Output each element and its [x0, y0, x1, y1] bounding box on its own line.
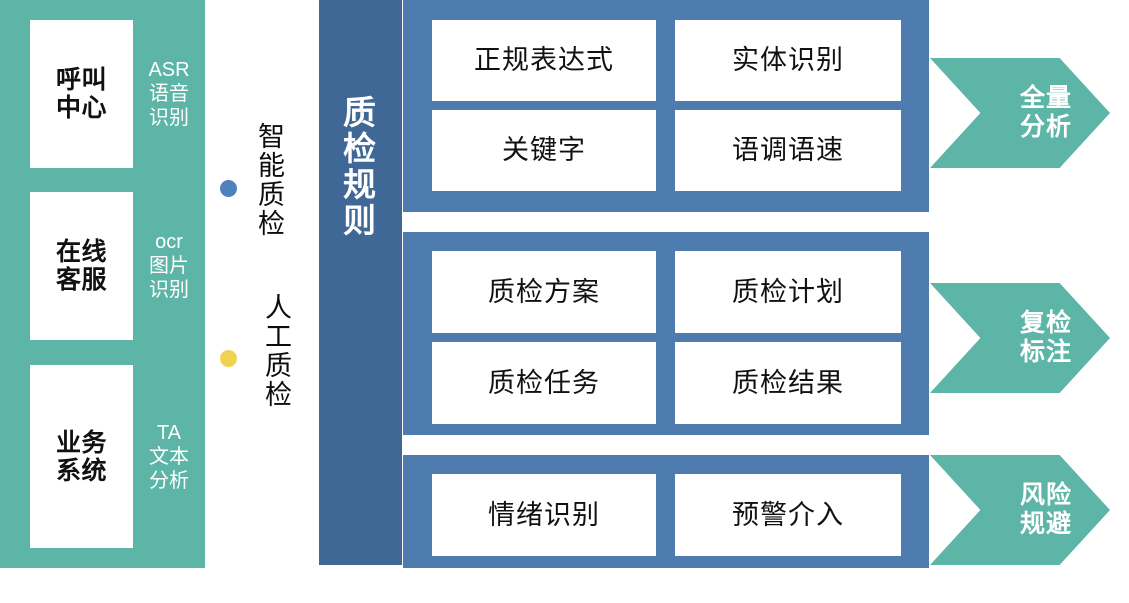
data-source-panel: 呼叫中心 ASR 语音 识别 在线客服 ocr 图片 识别 业务系统 TA — [0, 0, 205, 568]
cell-label: 质检计划 — [732, 279, 844, 306]
cell-label: 预警介入 — [732, 502, 844, 529]
outcome-chevron-label: 风险 规避 — [930, 481, 1110, 539]
group-panel-process: 质检方案 质检计划 质检任务 质检结果 — [403, 232, 929, 435]
cell-tone-speed[interactable]: 语调语速 — [675, 110, 901, 191]
source-box-online-service[interactable]: 在线客服 — [30, 192, 133, 340]
source-box-call-center[interactable]: 呼叫中心 — [30, 20, 133, 168]
cell-inspection-result[interactable]: 质检结果 — [675, 342, 901, 424]
cell-inspection-task[interactable]: 质检任务 — [432, 342, 656, 424]
outcome-chevron-risk-avoidance[interactable]: 风险 规避 — [930, 455, 1110, 565]
cell-emotion-recognition[interactable]: 情绪识别 — [432, 474, 656, 556]
mode-label-manual-inspection: 人工质检 — [262, 293, 289, 409]
source-tech-line: TA — [149, 421, 189, 445]
source-box-business-system[interactable]: 业务系统 — [30, 365, 133, 548]
inspection-rule-bar-label: 质检规则 — [341, 95, 381, 239]
source-box-label: 业务系统 — [56, 429, 107, 485]
outcome-chevron-label: 全量 分析 — [930, 84, 1110, 142]
cell-entity-recognition[interactable]: 实体识别 — [675, 20, 901, 101]
source-tech-line: 语音 — [148, 82, 189, 106]
mode-label-smart-inspection: 智能质检 — [255, 122, 282, 238]
group-panel-intervention: 情绪识别 预警介入 — [403, 455, 929, 568]
cell-label: 关键字 — [502, 137, 586, 164]
outcome-line: 标注 — [982, 338, 1110, 367]
cell-label: 质检方案 — [488, 279, 600, 306]
source-tech-line: ocr — [149, 230, 189, 254]
cell-label: 语调语速 — [732, 137, 844, 164]
cell-keyword[interactable]: 关键字 — [432, 110, 656, 191]
outcome-line: 风险 — [982, 481, 1110, 510]
outcome-line: 复检 — [982, 309, 1110, 338]
bullet-manual-inspection — [220, 350, 237, 367]
source-box-label: 在线客服 — [56, 238, 107, 294]
outcome-chevron-label: 复检 标注 — [930, 309, 1110, 367]
source-tech-line: 图片 — [149, 254, 189, 278]
source-box-label: 呼叫中心 — [56, 66, 107, 122]
outcome-line: 规避 — [982, 510, 1110, 539]
group-panel-rules: 正规表达式 实体识别 关键字 语调语速 — [403, 0, 929, 212]
outcome-line: 全量 — [982, 84, 1110, 113]
inspection-rule-bar: 质检规则 — [319, 0, 402, 565]
cell-regex[interactable]: 正规表达式 — [432, 20, 656, 101]
source-tech-online-service: ocr 图片 识别 — [136, 192, 202, 340]
outcome-line: 分析 — [982, 113, 1110, 142]
source-tech-line: 分析 — [149, 469, 189, 493]
source-tech-line: 识别 — [148, 106, 189, 130]
outcome-chevron-full-analysis[interactable]: 全量 分析 — [930, 58, 1110, 168]
cell-label: 实体识别 — [732, 47, 844, 74]
outcome-chevron-recheck-annotation[interactable]: 复检 标注 — [930, 283, 1110, 393]
cell-label: 质检任务 — [488, 370, 600, 397]
cell-inspection-plan-scheme[interactable]: 质检方案 — [432, 251, 656, 333]
source-tech-call-center: ASR 语音 识别 — [136, 20, 202, 168]
source-tech-business-system: TA 文本 分析 — [136, 365, 202, 548]
cell-label: 质检结果 — [732, 370, 844, 397]
cell-label: 正规表达式 — [474, 47, 614, 74]
source-tech-line: 识别 — [149, 278, 189, 302]
cell-label: 情绪识别 — [488, 502, 600, 529]
source-tech-line: 文本 — [149, 445, 189, 469]
cell-inspection-plan[interactable]: 质检计划 — [675, 251, 901, 333]
source-tech-line: ASR — [148, 58, 189, 82]
cell-early-warning-intervention[interactable]: 预警介入 — [675, 474, 901, 556]
diagram-canvas: 呼叫中心 ASR 语音 识别 在线客服 ocr 图片 识别 业务系统 TA — [0, 0, 1129, 603]
bullet-smart-inspection — [220, 180, 237, 197]
